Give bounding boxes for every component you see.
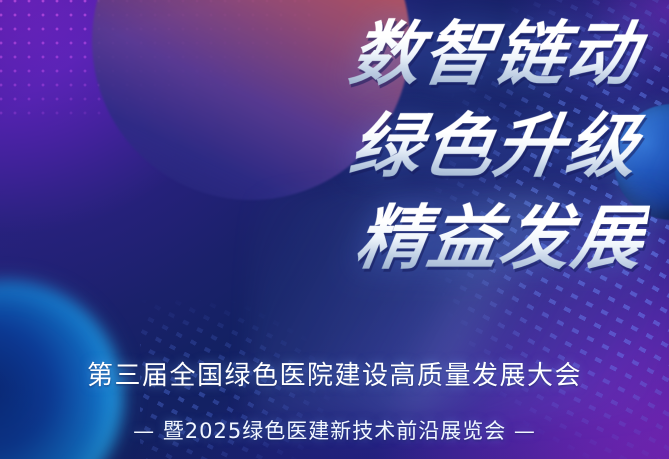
subtitle-secondary: — 暨2025绿色医建新技术前沿展览会 — — [0, 415, 669, 445]
headline-block: 数智链动 绿色升级 精益发展 — [0, 8, 645, 284]
headline-line-1: 数智链动 — [0, 8, 652, 100]
headline-line-2: 绿色升级 — [0, 100, 652, 192]
headline-line-3: 精益发展 — [0, 192, 652, 284]
subtitle-main: 第三届全国绿色医院建设高质量发展大会 — [0, 355, 669, 392]
conference-banner: 数智链动 绿色升级 精益发展 第三届全国绿色医院建设高质量发展大会 — 暨202… — [0, 0, 669, 459]
